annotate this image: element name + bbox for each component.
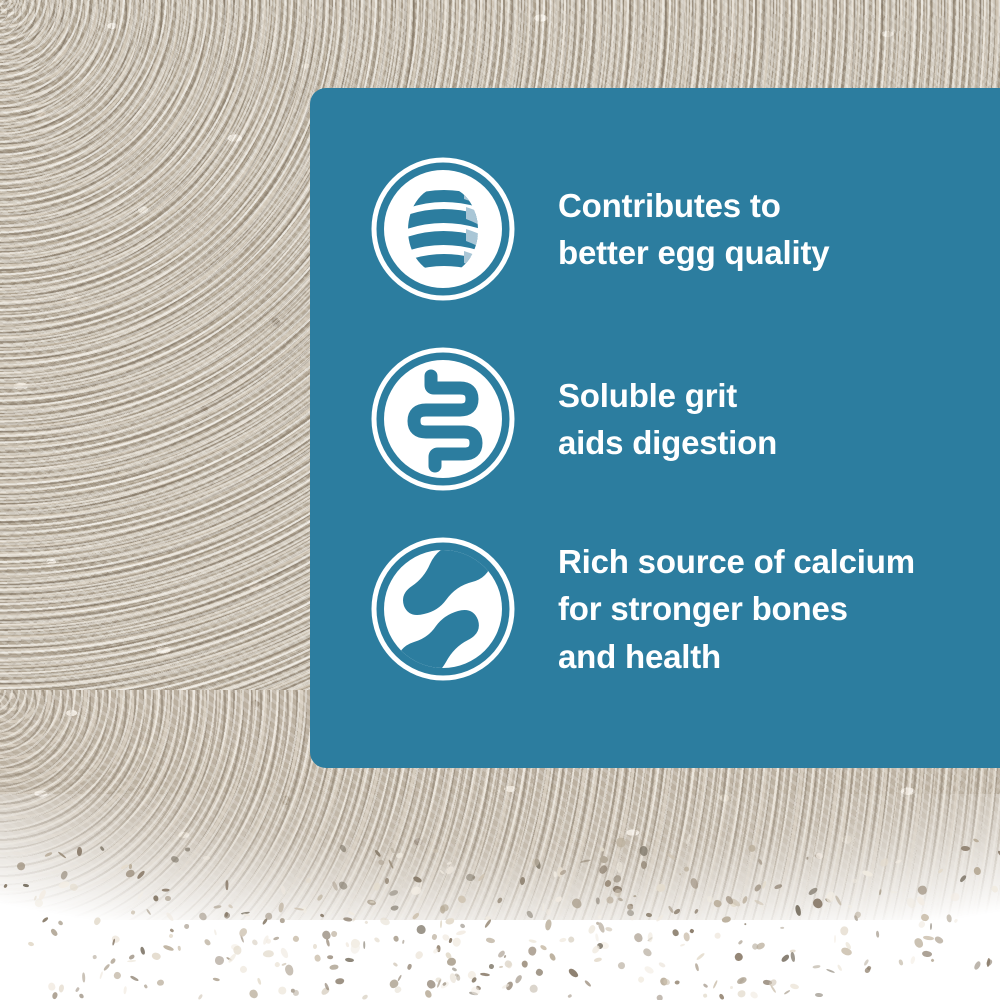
grit-fleck [544, 919, 552, 931]
grit-fleck [790, 952, 795, 962]
grit-fleck [633, 932, 644, 944]
grit-fleck [327, 955, 333, 959]
grit-fleck [657, 961, 665, 968]
benefit-label-egg-quality: Contributes to better egg quality [558, 182, 829, 276]
grit-fleck [616, 861, 623, 872]
grit-fleck [528, 939, 537, 944]
grit-fleck [922, 935, 933, 940]
grit-fleck [313, 944, 317, 949]
grit-fleck [734, 951, 745, 962]
grit-fleck [440, 906, 445, 914]
grit-fleck [363, 941, 365, 949]
grit-fleck [567, 994, 572, 998]
grit-fleck [446, 957, 456, 966]
grit-fleck [445, 917, 455, 925]
grit-fleck [922, 950, 933, 958]
grit-fleck [82, 972, 85, 982]
grit-fleck [514, 974, 523, 984]
grit-fleck [314, 954, 321, 962]
grit-fleck [265, 937, 272, 944]
grit-fleck [638, 976, 646, 984]
grit-fleck [110, 957, 117, 964]
grit-fleck [128, 953, 135, 959]
grit-fleck [177, 946, 180, 951]
grit-fleck [284, 964, 294, 976]
grit-fleck [273, 936, 280, 941]
grit-fleck [951, 892, 960, 900]
grit-fleck [184, 924, 190, 930]
grit-fleck [157, 979, 165, 986]
grit-fleck [549, 952, 557, 961]
grit-fleck [451, 967, 457, 972]
grit-fleck [374, 936, 381, 943]
grit-fleck [973, 960, 981, 970]
grit-fleck [738, 940, 744, 946]
grit-fleck [402, 940, 405, 945]
grit-fleck [165, 896, 172, 902]
grit-fleck [479, 972, 490, 976]
grit-fleck [225, 880, 228, 890]
grit-fleck [203, 856, 210, 860]
grit-fleck [712, 980, 718, 989]
grit-fleck [130, 975, 139, 982]
grit-fleck [58, 984, 65, 993]
grit-fleck [605, 927, 612, 932]
grit-fleck [140, 946, 146, 954]
grit-fleck [930, 923, 932, 930]
grit-fleck [918, 920, 926, 929]
grit-fleck [553, 871, 556, 877]
grit-fleck [656, 994, 663, 1000]
grit-fleck [749, 990, 759, 1000]
grit-fleck [617, 961, 625, 969]
grit-fleck [198, 993, 204, 999]
grit-fleck [784, 989, 791, 994]
grit-fleck [642, 947, 653, 958]
grit-fleck [163, 944, 174, 951]
grit-fleck [834, 935, 837, 943]
grit-fleck [789, 983, 799, 990]
grit-fleck [703, 983, 709, 988]
grit-fleck [587, 924, 597, 934]
grit-fleck [345, 957, 355, 962]
grit-fleck [503, 955, 506, 959]
grit-fleck [930, 958, 934, 962]
grit-fleck [730, 986, 733, 989]
grit-fleck [913, 937, 925, 949]
grit-fleck [679, 872, 682, 875]
grit-fleck [632, 895, 636, 898]
grit-fleck [424, 989, 433, 999]
grit-fleck [590, 944, 600, 955]
grit-fleck [47, 982, 56, 992]
grit-fleck [274, 961, 280, 967]
grit-fleck [257, 977, 262, 984]
grit-fleck [841, 926, 849, 935]
grit-fleck [75, 986, 80, 992]
grit-fleck [521, 961, 528, 969]
grit-fleck [528, 946, 537, 955]
grit-fleck [414, 950, 424, 961]
grit-fleck [168, 934, 173, 940]
grit-fleck [227, 952, 237, 963]
grit-fleck [825, 968, 834, 973]
grit-fleck [760, 904, 762, 907]
grit-fleck [683, 932, 691, 942]
grit-fleck [646, 912, 652, 917]
grit-fleck [702, 994, 707, 999]
grit-fleck [584, 979, 591, 986]
grit-fleck [123, 986, 127, 995]
grit-fleck [559, 938, 567, 944]
grit-fleck [331, 930, 338, 937]
grit-fleck [238, 964, 248, 974]
grit-fleck [329, 964, 338, 970]
grit-fleck [263, 950, 274, 958]
grit-fleck [213, 929, 217, 936]
grit-fleck [93, 954, 98, 959]
grit-fleck [690, 928, 695, 933]
grit-fleck [203, 939, 211, 947]
grit-fleck [529, 984, 539, 994]
grit-fleck [781, 954, 791, 964]
grit-fleck [684, 867, 689, 872]
grit-fleck [934, 935, 944, 945]
grit-fleck [185, 847, 190, 851]
grit-fleck [251, 939, 258, 947]
grit-fleck [679, 943, 684, 947]
grit-fleck [440, 920, 443, 928]
product-benefits-image: Contributes to better egg quality Solubl… [0, 0, 1000, 1000]
grit-fleck [279, 947, 289, 959]
grit-fleck [432, 934, 438, 940]
grit-fleck [736, 977, 747, 986]
grit-fleck [51, 991, 58, 1000]
grit-fleck [672, 928, 680, 937]
grit-fleck [213, 977, 220, 981]
grit-fleck [293, 990, 300, 997]
benefit-item-calcium-bones: Rich source of calcium for stronger bone… [310, 514, 1000, 704]
grit-fleck [27, 941, 34, 947]
grit-fleck [836, 964, 842, 972]
grit-fleck [696, 952, 705, 960]
grit-fleck [535, 968, 544, 977]
grit-fleck [169, 928, 174, 932]
grit-fleck [215, 956, 225, 965]
grit-fleck [392, 935, 399, 942]
grit-fleck [539, 944, 548, 952]
grit-fleck [910, 956, 916, 964]
grit-fleck [507, 962, 513, 969]
grit-fleck [567, 967, 579, 978]
grit-fleck [407, 964, 412, 970]
grit-fleck [103, 963, 110, 971]
grit-fleck [365, 921, 369, 925]
grit-fleck [57, 920, 63, 926]
grit-fleck [643, 965, 655, 976]
benefits-list: Contributes to better egg quality Solubl… [310, 88, 1000, 768]
grit-fleck [489, 963, 495, 969]
grit-fleck [335, 978, 344, 985]
grit-fleck [76, 846, 81, 855]
grit-fleck [99, 971, 104, 979]
grit-fleck [151, 952, 161, 961]
grit-fleck [780, 927, 784, 930]
grit-fleck [695, 963, 700, 972]
benefit-item-digestion: Soluble grit aids digestion [310, 324, 1000, 514]
benefit-item-egg-quality: Contributes to better egg quality [310, 134, 1000, 324]
grit-fleck [722, 916, 732, 923]
grit-fleck [50, 928, 59, 937]
grit-fleck [393, 961, 399, 966]
grit-fleck [451, 936, 461, 947]
grit-fleck [875, 930, 879, 937]
grit-fleck [486, 937, 496, 944]
grit-fleck [714, 933, 720, 939]
grit-fleck [278, 987, 287, 995]
grit-fleck [737, 989, 746, 998]
grit-fleck [594, 958, 603, 963]
grit-fleck [144, 983, 148, 988]
grit-fleck [459, 923, 466, 929]
grit-fleck [247, 988, 259, 1000]
grit-fleck [674, 980, 680, 985]
grit-fleck [744, 923, 747, 926]
grit-fleck [292, 934, 300, 942]
intestine-icon [368, 344, 518, 494]
grit-fleck [78, 993, 84, 999]
grit-fleck [815, 993, 823, 998]
grit-fleck [397, 974, 402, 981]
grit-fleck [630, 916, 633, 921]
grit-fleck [113, 971, 122, 980]
grit-fleck [432, 947, 439, 954]
egg-icon [368, 154, 518, 304]
grit-fleck [127, 959, 136, 962]
grit-fleck [346, 942, 350, 948]
benefits-panel: Contributes to better egg quality Solubl… [310, 88, 1000, 768]
grit-fleck [595, 933, 599, 941]
grit-fleck [898, 958, 904, 965]
grit-fleck [499, 966, 503, 969]
grit-fleck [813, 965, 821, 969]
bone-joint-icon [368, 534, 518, 684]
benefit-label-digestion: Soluble grit aids digestion [558, 372, 777, 466]
grit-fleck [567, 936, 575, 944]
grit-fleck [648, 932, 653, 943]
grit-fleck [719, 993, 725, 1000]
grit-fleck [456, 930, 467, 936]
benefit-label-calcium-bones: Rich source of calcium for stronger bone… [558, 538, 915, 680]
grit-fleck [361, 993, 368, 1000]
grit-fleck [416, 924, 427, 935]
